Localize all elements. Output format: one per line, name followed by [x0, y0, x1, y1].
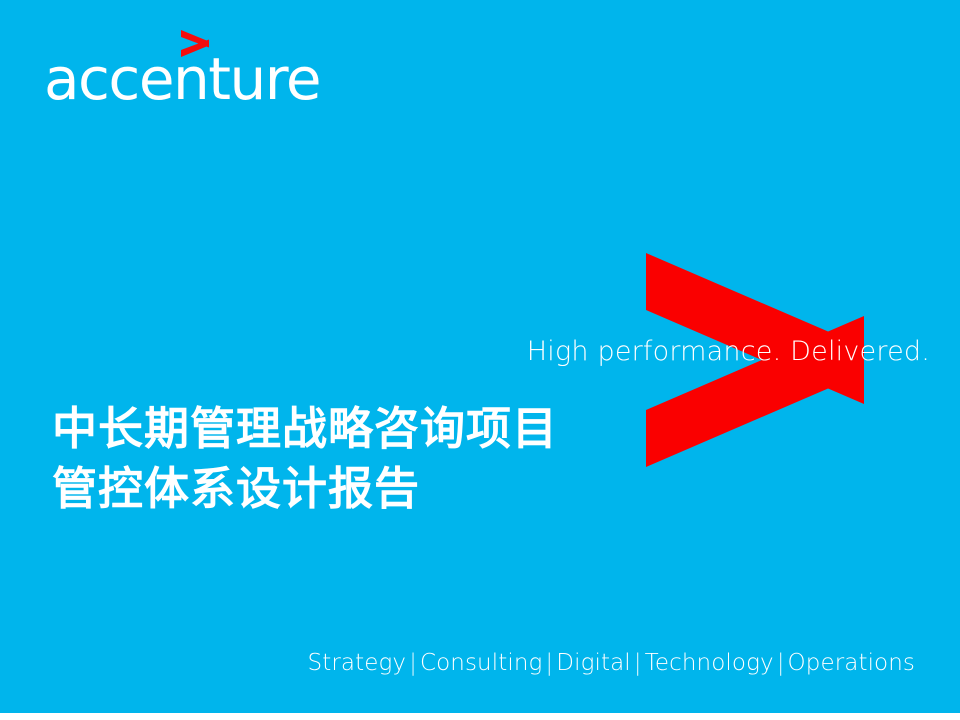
title-slide: accenture High performance. Delivered. 中…	[0, 0, 960, 720]
footer-separator: |	[406, 650, 420, 676]
page-title-line-2: 管控体系设计报告	[52, 459, 558, 519]
footer-separator: |	[542, 650, 556, 676]
page-title-line-1: 中长期管理战略咨询项目	[52, 399, 558, 459]
footer-separator: |	[774, 650, 788, 676]
footer-service-consulting: Consulting	[420, 650, 542, 676]
page-title: 中长期管理战略咨询项目 管控体系设计报告	[52, 399, 558, 519]
footer-service-strategy: Strategy	[308, 650, 407, 676]
footer-service-digital: Digital	[556, 650, 631, 676]
footer-service-technology: Technology	[645, 650, 774, 676]
footer-services-list: Strategy|Consulting|Digital|Technology|O…	[0, 650, 915, 676]
greater-than-caret-icon	[179, 28, 225, 58]
brand-tagline: High performance. Delivered.	[0, 336, 930, 367]
footer-service-operations: Operations	[788, 650, 915, 676]
footer-separator: |	[631, 650, 645, 676]
accenture-logo[interactable]: accenture	[44, 24, 344, 114]
accenture-wordmark: accenture	[44, 50, 320, 108]
